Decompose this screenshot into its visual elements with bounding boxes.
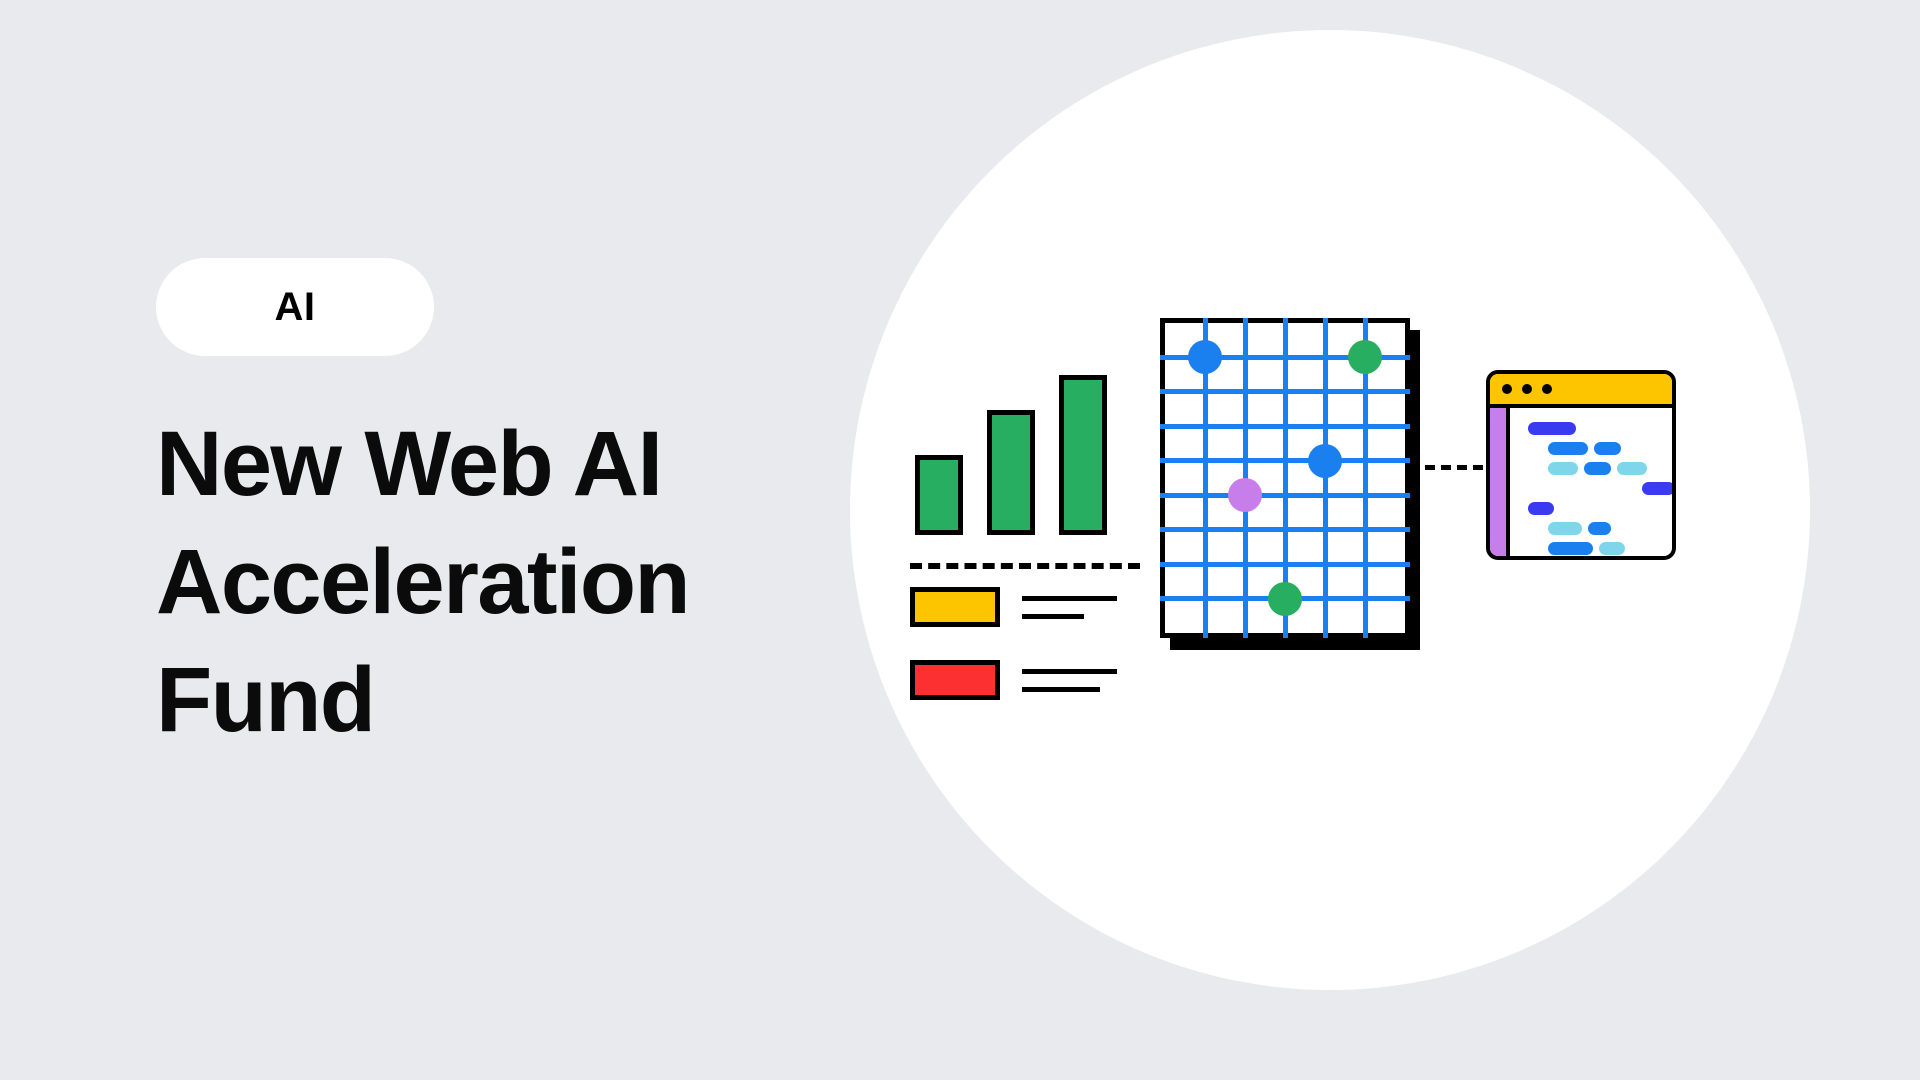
chart-bar-1 (915, 455, 963, 535)
chart-bar-2 (987, 410, 1035, 535)
legend-text-lines (1022, 669, 1117, 692)
grid-horizontal-line (1160, 527, 1410, 532)
page-title-line-3: Fund (156, 642, 796, 760)
legend-line (1022, 614, 1084, 619)
code-token (1588, 522, 1611, 535)
scatter-point (1268, 582, 1302, 616)
code-token (1599, 542, 1625, 555)
page-title-line-1: New Web AI (156, 406, 796, 524)
bar-chart-graphic (915, 355, 1145, 535)
hero-illustration (850, 30, 1810, 1040)
page-title: New Web AIAccelerationFund (156, 406, 796, 759)
grid-horizontal-line (1160, 458, 1410, 463)
grid-lines (1165, 323, 1405, 633)
legend-text-lines (1022, 596, 1117, 619)
code-token (1594, 442, 1621, 455)
legend-swatch-red (910, 660, 1000, 700)
code-token (1548, 462, 1578, 475)
window-close-dot-icon[interactable] (1502, 384, 1512, 394)
code-window-titlebar (1490, 374, 1672, 408)
legend-row-yellow (910, 587, 1117, 627)
page-title-line-2: Acceleration (156, 524, 796, 642)
dashed-connector-line (1425, 465, 1483, 470)
code-token (1642, 482, 1675, 495)
scatter-point (1348, 340, 1382, 374)
legend-line (1022, 596, 1117, 601)
code-token-lines (1510, 408, 1672, 560)
grid-horizontal-line (1160, 424, 1410, 429)
scatter-point (1188, 340, 1222, 374)
hero-banner: AI New Web AIAccelerationFund (0, 0, 1920, 1080)
window-maximize-dot-icon[interactable] (1542, 384, 1552, 394)
code-token (1528, 422, 1576, 435)
legend-swatch-yellow (910, 587, 1000, 627)
window-minimize-dot-icon[interactable] (1522, 384, 1532, 394)
code-token (1584, 462, 1611, 475)
grid-horizontal-line (1160, 389, 1410, 394)
ai-badge-label: AI (275, 285, 316, 330)
ai-category-badge[interactable]: AI (156, 258, 434, 356)
legend-line (1022, 687, 1100, 692)
scatter-point (1228, 478, 1262, 512)
code-token (1548, 542, 1593, 555)
dashed-separator-line (910, 563, 1140, 569)
code-token (1617, 462, 1647, 475)
legend-row-red (910, 660, 1117, 700)
scatter-point (1308, 444, 1342, 478)
code-window-body (1490, 408, 1672, 560)
code-token (1548, 522, 1582, 535)
code-editor-window[interactable] (1486, 370, 1676, 560)
text-column: AI New Web AIAccelerationFund (156, 258, 856, 759)
legend-line (1022, 669, 1117, 674)
chart-bar-3 (1059, 375, 1107, 535)
grid-vertical-line (1323, 318, 1328, 638)
code-token (1548, 442, 1588, 455)
scatter-grid-card (1160, 318, 1410, 638)
grid-horizontal-line (1160, 493, 1410, 498)
code-sidebar (1490, 408, 1510, 560)
grid-horizontal-line (1160, 562, 1410, 567)
code-token (1528, 502, 1554, 515)
